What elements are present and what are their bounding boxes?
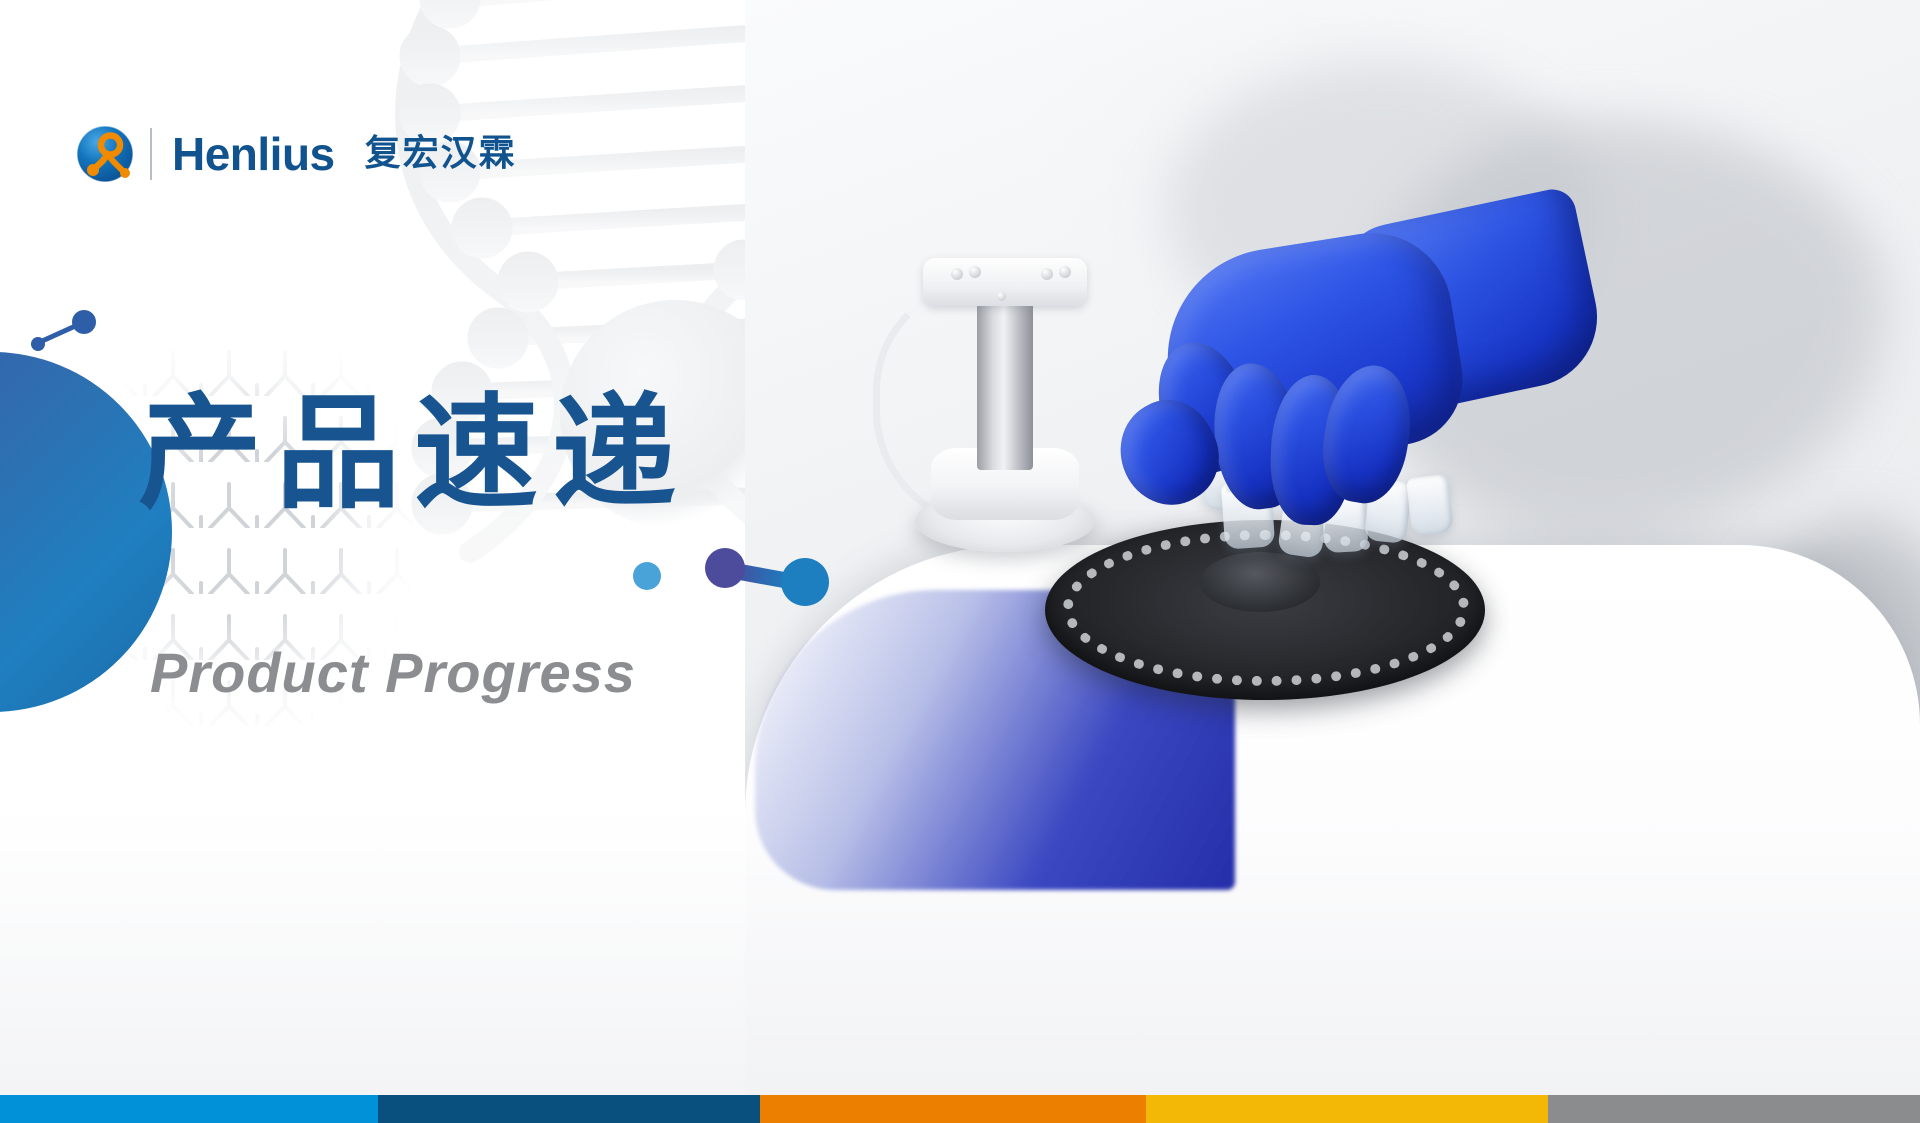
instrument-knob <box>1041 268 1053 280</box>
lab-centrifuge-gloved-hand-photo <box>745 0 1920 1095</box>
brand-divider <box>150 128 152 180</box>
page-subtitle-en: Product Progress <box>150 645 636 701</box>
brand-name-cn: 复宏汉霖 <box>365 136 517 172</box>
brand-name-en: Henlius <box>172 131 335 177</box>
segment-light-blue <box>0 1095 378 1123</box>
page-title-cn: 产品速递 <box>138 385 690 524</box>
instrument-knob <box>951 268 963 280</box>
instrument-knob <box>1059 266 1071 278</box>
segment-yellow <box>1146 1095 1548 1123</box>
instrument-steel-rod <box>977 290 1033 470</box>
segment-orange <box>760 1095 1146 1123</box>
bottom-colorbar <box>0 1095 1920 1123</box>
molecule-node-icon <box>28 310 102 354</box>
brand-lockup: Henlius 复宏汉霖 <box>76 118 517 190</box>
centrifuge-rotor-hub <box>1200 552 1320 612</box>
instrument-knob <box>969 266 981 278</box>
gloved-hand <box>1075 215 1545 545</box>
henlius-molecule-logo-icon <box>76 125 134 183</box>
segment-dark-blue <box>378 1095 760 1123</box>
segment-gray <box>1548 1095 1920 1123</box>
instrument-knob <box>997 292 1006 301</box>
slide-root: Henlius 复宏汉霖 产品速递 Product Progress <box>0 0 1920 1123</box>
molecule-dumbbell-icon <box>625 540 855 610</box>
